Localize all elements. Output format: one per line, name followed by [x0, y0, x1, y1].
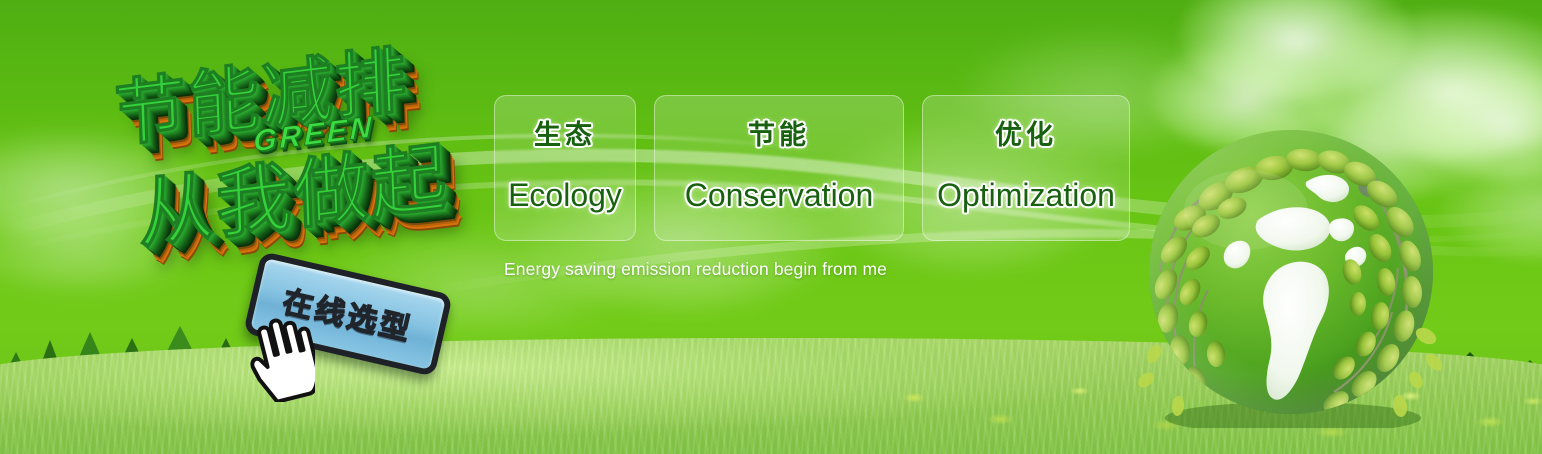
feature-card-conservation[interactable]: 节能 Conservation — [654, 95, 904, 241]
card-title-en: Ecology — [508, 179, 622, 211]
banner-tagline: Energy saving emission reduction begin f… — [504, 259, 887, 280]
headline-artwork: 节能减排 GREEN 从我做起 — [95, 38, 495, 258]
card-title-en: Optimization — [937, 179, 1115, 211]
leafy-earth-globe-icon — [1138, 122, 1444, 428]
feature-card-optimization[interactable]: 优化 Optimization — [922, 95, 1130, 241]
card-title-cn: 优化 — [995, 122, 1057, 149]
card-title-en: Conservation — [685, 179, 874, 211]
feature-card-group: 生态 Ecology 节能 Conservation 优化 Optimizati… — [494, 95, 1130, 241]
hand-pointer-icon — [243, 316, 315, 402]
card-title-cn: 生态 — [534, 122, 596, 149]
green-banner: 节能减排 GREEN 从我做起 在线选型 生态 Ecology 节能 Conse… — [0, 0, 1542, 454]
feature-card-ecology[interactable]: 生态 Ecology — [494, 95, 636, 241]
card-title-cn: 节能 — [748, 122, 810, 149]
